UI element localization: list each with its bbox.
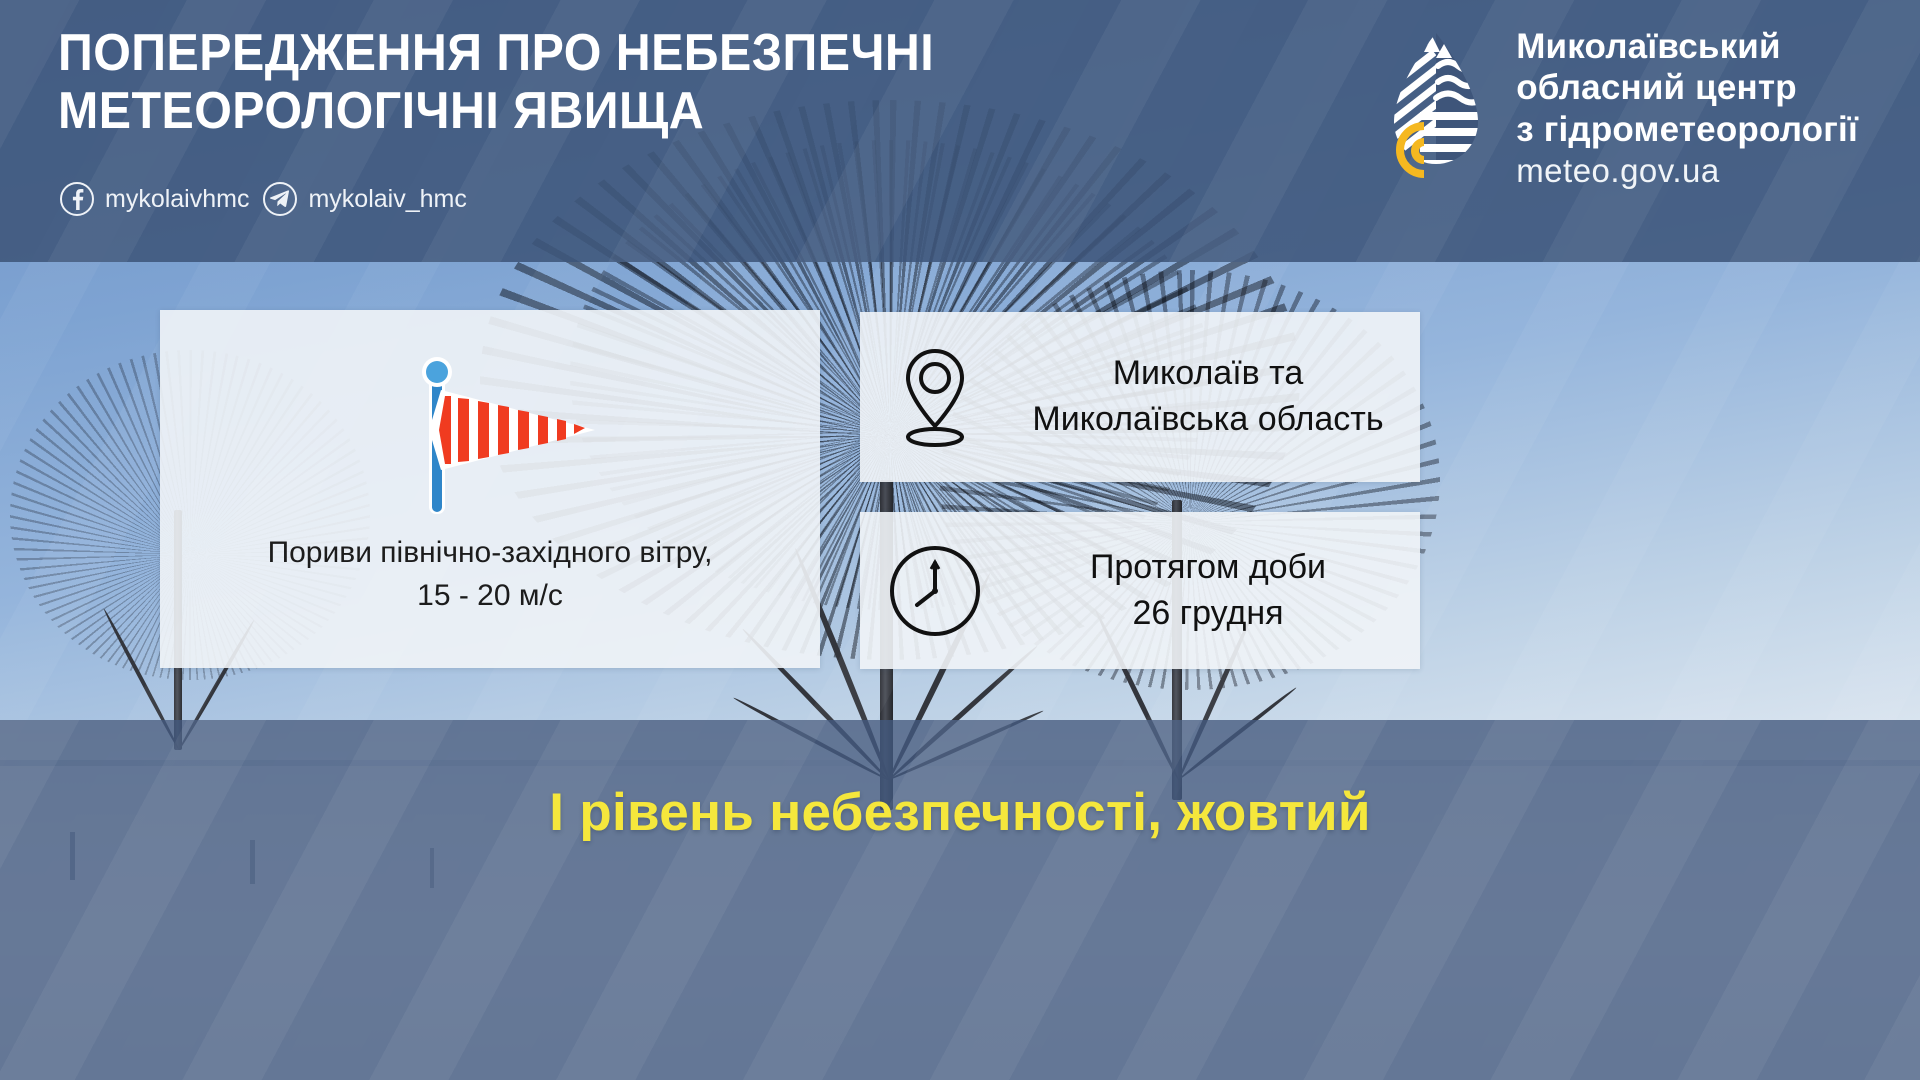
wind-warning-line2: 15 - 20 м/с: [184, 575, 796, 618]
page-title-line1: ПОПЕРЕДЖЕННЯ ПРО НЕБЕЗПЕЧНІ: [58, 24, 934, 82]
logo-line-1: Миколаївський: [1516, 27, 1781, 66]
danger-level-text: I рівень небезпечності, жовтий: [549, 782, 1370, 843]
wind-warning-line1: Пориви північно-західного вітру,: [268, 536, 713, 569]
wind-warning-text: Пориви північно-західного вітру, 15 - 20…: [184, 532, 796, 617]
social-link-telegram[interactable]: mykolaiv_hmc: [263, 182, 466, 216]
social-handle-telegram: mykolaiv_hmc: [308, 185, 466, 214]
social-links: mykolaivhmc mykolaiv_hmc: [60, 182, 467, 216]
header-bar: ПОПЕРЕДЖЕННЯ ПРО НЕБЕЗПЕЧНІ МЕТЕОРОЛОГІЧ…: [0, 0, 1920, 262]
footer-diagonal-streaks: [0, 720, 1920, 1080]
social-handle-facebook: mykolaivhmc: [105, 185, 249, 214]
facebook-icon: [60, 182, 94, 216]
time-card: Протягом доби 26 грудня: [860, 512, 1420, 669]
wind-pennant-flag-icon: [160, 344, 820, 514]
time-line2: 26 грудня: [1010, 591, 1406, 637]
time-line1: Протягом доби: [1090, 548, 1326, 586]
organization-logo[interactable]: Миколаївський обласний центр з гідромете…: [1380, 26, 1858, 191]
social-link-facebook[interactable]: mykolaivhmc: [60, 182, 249, 216]
organization-logo-text: Миколаївський обласний центр з гідромете…: [1516, 26, 1858, 191]
page-title-line2: МЕТЕОРОЛОГІЧНІ ЯВИЩА: [58, 82, 934, 140]
logo-website-url[interactable]: meteo.gov.ua: [1516, 152, 1858, 191]
wind-warning-card: Пориви північно-західного вітру, 15 - 20…: [160, 310, 820, 668]
location-card: Миколаїв та Миколаївська область: [860, 312, 1420, 482]
page-title: ПОПЕРЕДЖЕННЯ ПРО НЕБЕЗПЕЧНІ МЕТЕОРОЛОГІЧ…: [58, 24, 934, 140]
logo-line-2: обласний центр: [1516, 68, 1797, 107]
telegram-icon: [263, 182, 297, 216]
footer-bar: I рівень небезпечності, жовтий: [0, 720, 1920, 1080]
clock-icon: [860, 543, 1010, 639]
logo-line-3: з гідрометеорології: [1516, 110, 1858, 149]
time-text: Протягом доби 26 грудня: [1010, 545, 1420, 636]
location-text: Миколаїв та Миколаївська область: [1010, 351, 1420, 442]
hydromet-droplet-logo-icon: [1380, 30, 1492, 180]
location-line2: Миколаївська область: [1010, 397, 1406, 443]
location-line1: Миколаїв та: [1113, 354, 1304, 392]
map-pin-icon: [860, 345, 1010, 449]
